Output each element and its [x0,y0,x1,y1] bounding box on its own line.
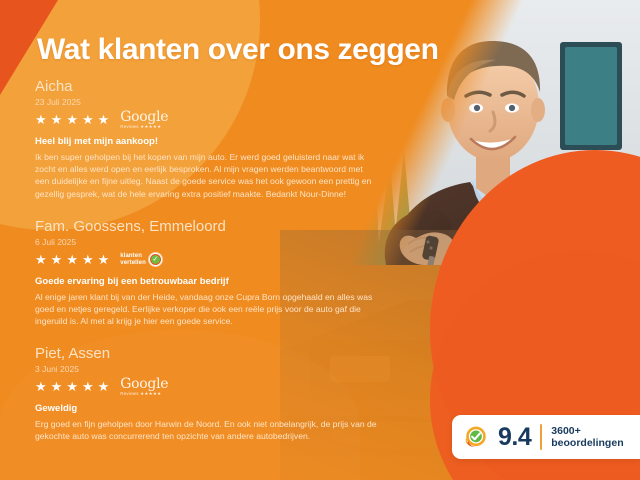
reviewer-name: Piet, Assen [35,345,377,362]
star-icon: ★ [82,113,95,126]
review-date: 23 Juli 2025 [35,96,377,108]
klantenvertellen-wordmark: klanten vertellen [120,253,146,267]
review-card: Piet, Assen 3 Juni 2025 ★ ★ ★ ★ ★ Google… [35,345,377,442]
klantenvertellen-check-icon: ✓ [149,253,162,266]
klantenvertellen-shield-icon [463,424,489,450]
review-title: Geweldig [35,402,377,415]
star-icon: ★ [82,253,95,266]
google-wordmark: Google [120,110,168,124]
star-icon: ★ [51,253,64,266]
google-reviews-subtext: Reviews ★★★★★ [120,125,161,130]
rating-score: 9.4 [498,425,531,450]
google-reviews-subtext: Reviews ★★★★★ [120,392,161,397]
review-body: Erg goed en fijn geholpen door Harwin de… [35,418,377,442]
review-title: Heel blij met mijn aankoop! [35,135,377,148]
star-icon: ★ [98,380,111,393]
review-body: Al enige jaren klant bij van der Heide, … [35,291,377,328]
review-card: Aicha 23 Juli 2025 ★ ★ ★ ★ ★ Google Revi… [35,78,377,200]
reviewer-name: Fam. Goossens, Emmeloord [35,218,377,235]
star-icon: ★ [98,113,111,126]
star-rating: ★ ★ ★ ★ ★ [35,113,110,126]
star-icon: ★ [66,380,79,393]
star-icon: ★ [35,253,48,266]
reviewer-name: Aicha [35,78,377,95]
star-icon: ★ [35,113,48,126]
review-title: Goede ervaring bij een betrouwbaar bedri… [35,275,377,288]
review-body: Ik ben super geholpen bij het kopen van … [35,151,377,200]
google-reviews-logo: Google Reviews ★★★★★ [120,110,168,130]
star-icon: ★ [66,113,79,126]
star-icon: ★ [98,253,111,266]
star-icon: ★ [35,380,48,393]
rating-count: 3600+ [551,425,623,437]
star-icon: ★ [66,253,79,266]
klantenvertellen-logo: klanten vertellen ✓ [120,253,162,267]
rating-count-block: 3600+ beoordelingen [551,425,623,449]
badge-divider [540,424,542,450]
klantenvertellen-line1: klanten [120,253,146,260]
review-meta: ★ ★ ★ ★ ★ Google Reviews ★★★★★ [35,378,377,395]
testimonial-banner: Wat klanten over ons zeggen Aicha 23 Jul… [0,0,640,480]
check-icon: ✓ [150,254,161,265]
review-date: 3 Juni 2025 [35,363,377,375]
star-rating: ★ ★ ★ ★ ★ [35,380,110,393]
review-date: 6 Juli 2025 [35,236,377,248]
review-meta: ★ ★ ★ ★ ★ Google Reviews ★★★★★ [35,111,377,128]
banner-content: Wat klanten over ons zeggen Aicha 23 Jul… [0,0,640,480]
klantenvertellen-line2: vertellen [120,260,146,267]
star-icon: ★ [51,380,64,393]
review-meta: ★ ★ ★ ★ ★ klanten vertellen ✓ [35,251,377,268]
star-icon: ★ [51,113,64,126]
rating-label: beoordelingen [551,437,623,449]
star-rating: ★ ★ ★ ★ ★ [35,253,110,266]
page-title: Wat klanten over ons zeggen [37,33,439,67]
review-card: Fam. Goossens, Emmeloord 6 Juli 2025 ★ ★… [35,218,377,328]
google-reviews-logo: Google Reviews ★★★★★ [120,377,168,397]
rating-badge[interactable]: 9.4 3600+ beoordelingen [452,415,640,459]
star-icon: ★ [82,380,95,393]
google-wordmark: Google [120,377,168,391]
